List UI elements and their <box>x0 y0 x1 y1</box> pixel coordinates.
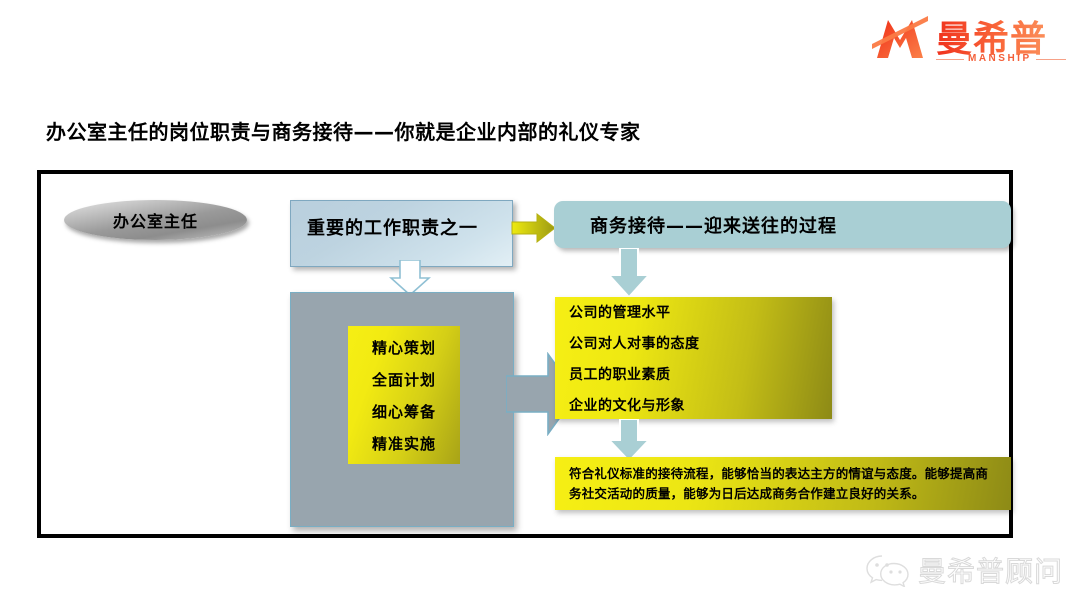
logo-rule-right <box>1036 59 1066 60</box>
role-oval-label: 办公室主任 <box>113 208 198 232</box>
logo-brand-en: MANSHIP <box>968 53 1032 64</box>
diagram-canvas: 办公室主任 重要的工作职责之一 商务接待——迎来送往的过程 <box>41 174 1009 534</box>
arrow-down-icon-reception-to-aspects <box>607 248 651 298</box>
conclusion-box: 符合礼仪标准的接待流程，能够恰当的表达主方的情谊与态度。能够提高商务社交活动的质… <box>555 457 1011 510</box>
arrow-down-icon-aspects-to-conclusion <box>607 419 651 462</box>
plan-panel: 精心策划 全面计划 细心筹备 精准实施 <box>290 292 514 527</box>
aspect-item: 公司对人对事的态度 <box>569 328 832 359</box>
role-oval-shape: 办公室主任 <box>64 200 247 240</box>
plan-item: 细心筹备 <box>348 396 460 428</box>
aspect-item: 企业的文化与形象 <box>569 390 832 421</box>
diagram-frame: 办公室主任 重要的工作职责之一 商务接待——迎来送往的过程 <box>37 170 1013 538</box>
reception-box-label: 商务接待——迎来送往的过程 <box>590 212 837 238</box>
plan-item: 精心策划 <box>348 332 460 364</box>
logo-rule-left <box>936 59 964 60</box>
arrow-down-icon-duty-to-plan <box>389 260 431 296</box>
plan-list: 精心策划 全面计划 细心筹备 精准实施 <box>348 326 460 464</box>
plan-item: 全面计划 <box>348 364 460 396</box>
watermark: 曼希普顾问 <box>866 548 1063 592</box>
wechat-icon <box>866 553 910 587</box>
aspect-item: 员工的职业素质 <box>569 359 832 390</box>
duty-box-label: 重要的工作职责之一 <box>307 214 478 240</box>
aspects-box: 公司的管理水平 公司对人对事的态度 员工的职业素质 企业的文化与形象 <box>555 297 832 419</box>
manship-m-mark-icon <box>872 14 928 60</box>
brand-logo: 曼希普 MANSHIP <box>872 12 1068 70</box>
duty-box: 重要的工作职责之一 <box>290 200 513 267</box>
aspect-item: 公司的管理水平 <box>569 297 832 328</box>
watermark-label: 曼希普顾问 <box>918 550 1063 590</box>
arrow-right-icon-duty-to-reception <box>511 213 556 243</box>
reception-box: 商务接待——迎来送往的过程 <box>554 201 1011 248</box>
plan-item: 精准实施 <box>348 428 460 460</box>
page-title: 办公室主任的岗位职责与商务接待——你就是企业内部的礼仪专家 <box>46 116 641 145</box>
conclusion-text: 符合礼仪标准的接待流程，能够恰当的表达主方的情谊与态度。能够提高商务社交活动的质… <box>555 457 1011 504</box>
